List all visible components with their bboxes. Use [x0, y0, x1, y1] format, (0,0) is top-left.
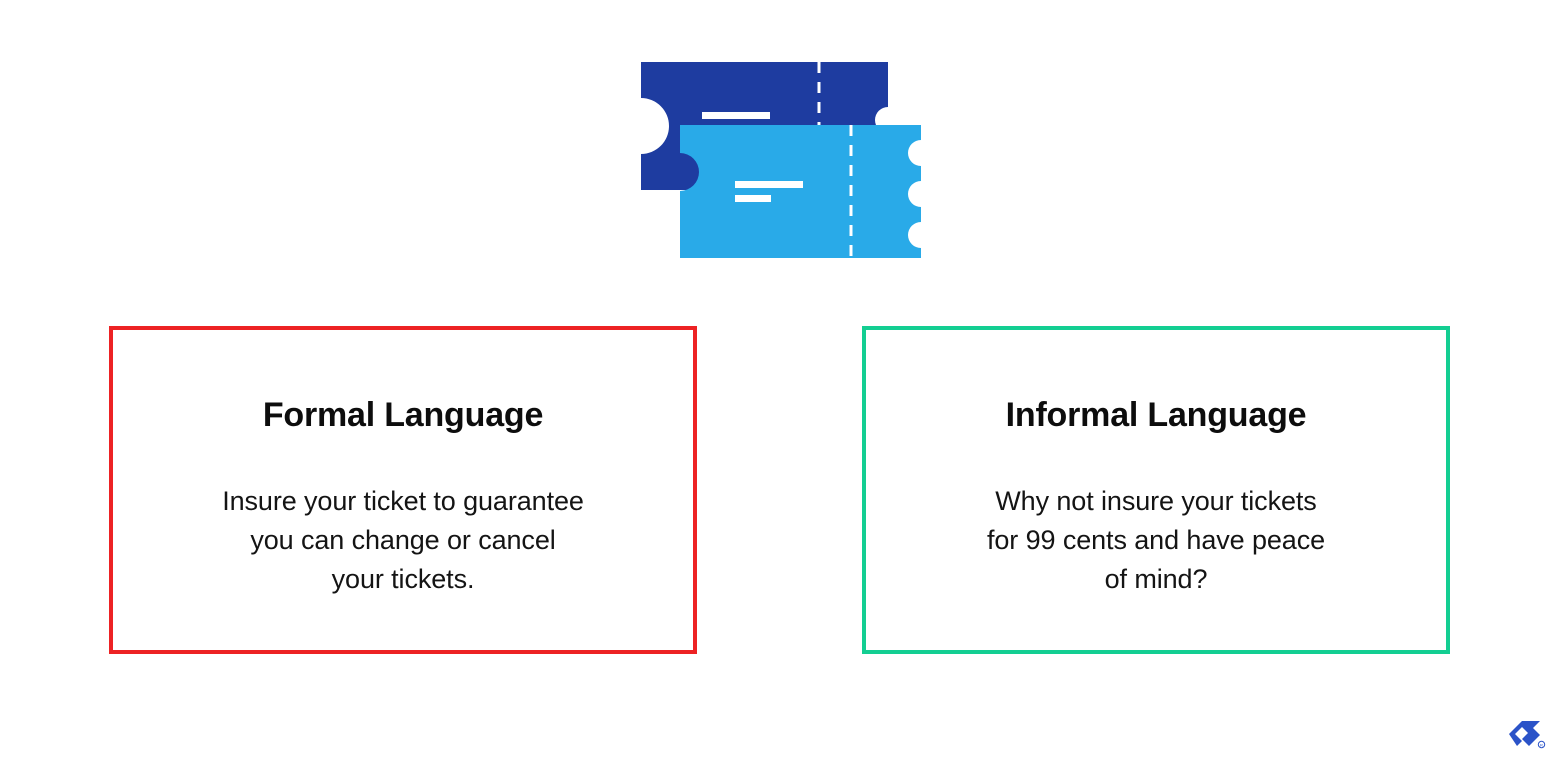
formal-language-body-line-2: you can change or cancel — [113, 521, 693, 560]
ticket-light-detail-line-2 — [735, 195, 771, 202]
formal-language-body: Insure your ticket to guarantee you can … — [113, 482, 693, 599]
tickets-svg — [630, 50, 940, 270]
informal-language-body-line-2: for 99 cents and have peace — [866, 521, 1446, 560]
informal-language-body-line-1: Why not insure your tickets — [866, 482, 1446, 521]
ticket-light-icon — [680, 125, 921, 258]
informal-language-body-line-3: of mind? — [866, 560, 1446, 599]
toptal-logo-icon: R — [1504, 714, 1548, 754]
informal-language-body: Why not insure your tickets for 99 cents… — [866, 482, 1446, 599]
formal-language-body-line-3: your tickets. — [113, 560, 693, 599]
toptal-logo: R — [1504, 714, 1548, 754]
formal-language-title: Formal Language — [113, 395, 693, 435]
ticket-dark-detail-line-1 — [702, 112, 770, 119]
ticket-light-detail-line-1 — [735, 181, 803, 188]
two-tickets-illustration — [630, 50, 940, 270]
informal-language-card: Informal Language Why not insure your ti… — [862, 326, 1450, 654]
informal-language-title: Informal Language — [866, 395, 1446, 435]
registered-mark-glyph: R — [1540, 742, 1543, 747]
formal-language-body-line-1: Insure your ticket to guarantee — [113, 482, 693, 521]
formal-language-card: Formal Language Insure your ticket to gu… — [109, 326, 697, 654]
